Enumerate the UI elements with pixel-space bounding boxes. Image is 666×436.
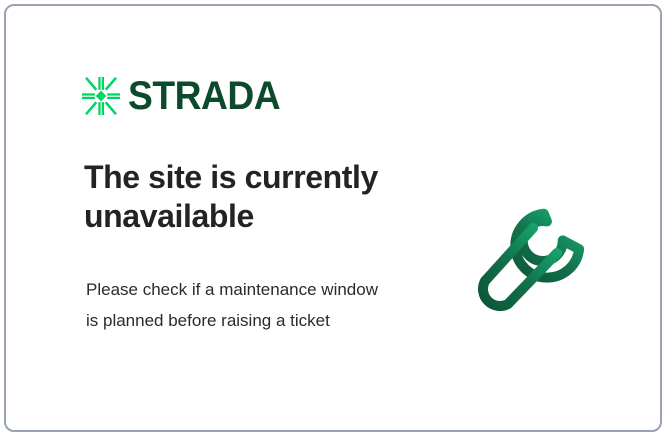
- page-title: The site is currently unavailable: [84, 158, 414, 236]
- brand-wordmark: STRADA: [128, 76, 280, 116]
- page-description: Please check if a maintenance window is …: [86, 274, 391, 336]
- status-card: STRADA The site is currently unavailable…: [4, 4, 662, 432]
- strada-starburst-icon: [82, 77, 120, 115]
- error-page: STRADA The site is currently unavailable…: [0, 0, 666, 436]
- brand-logo: STRADA: [82, 74, 292, 118]
- wrench-icon: [461, 156, 621, 321]
